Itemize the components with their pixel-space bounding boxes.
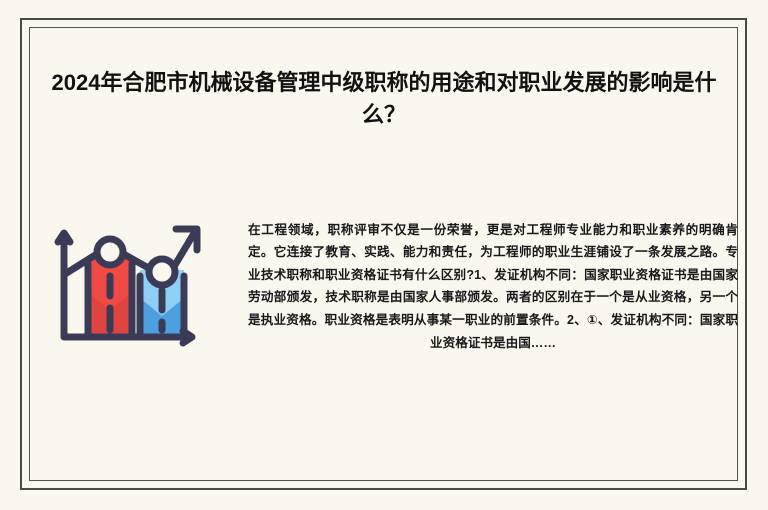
page-root: 2024年合肥市机械设备管理中级职称的用途和对职业发展的影响是什么？	[0, 0, 768, 510]
page-title: 2024年合肥市机械设备管理中级职称的用途和对职业发展的影响是什么？	[38, 67, 730, 131]
article-body-text: 在工程领域，职称评审不仅是一份荣誉，更是对工程师专业能力和职业素养的明确肯定。它…	[248, 219, 738, 355]
chart-icon-svg	[48, 218, 208, 368]
bar-line-growth-chart-icon	[48, 218, 208, 368]
